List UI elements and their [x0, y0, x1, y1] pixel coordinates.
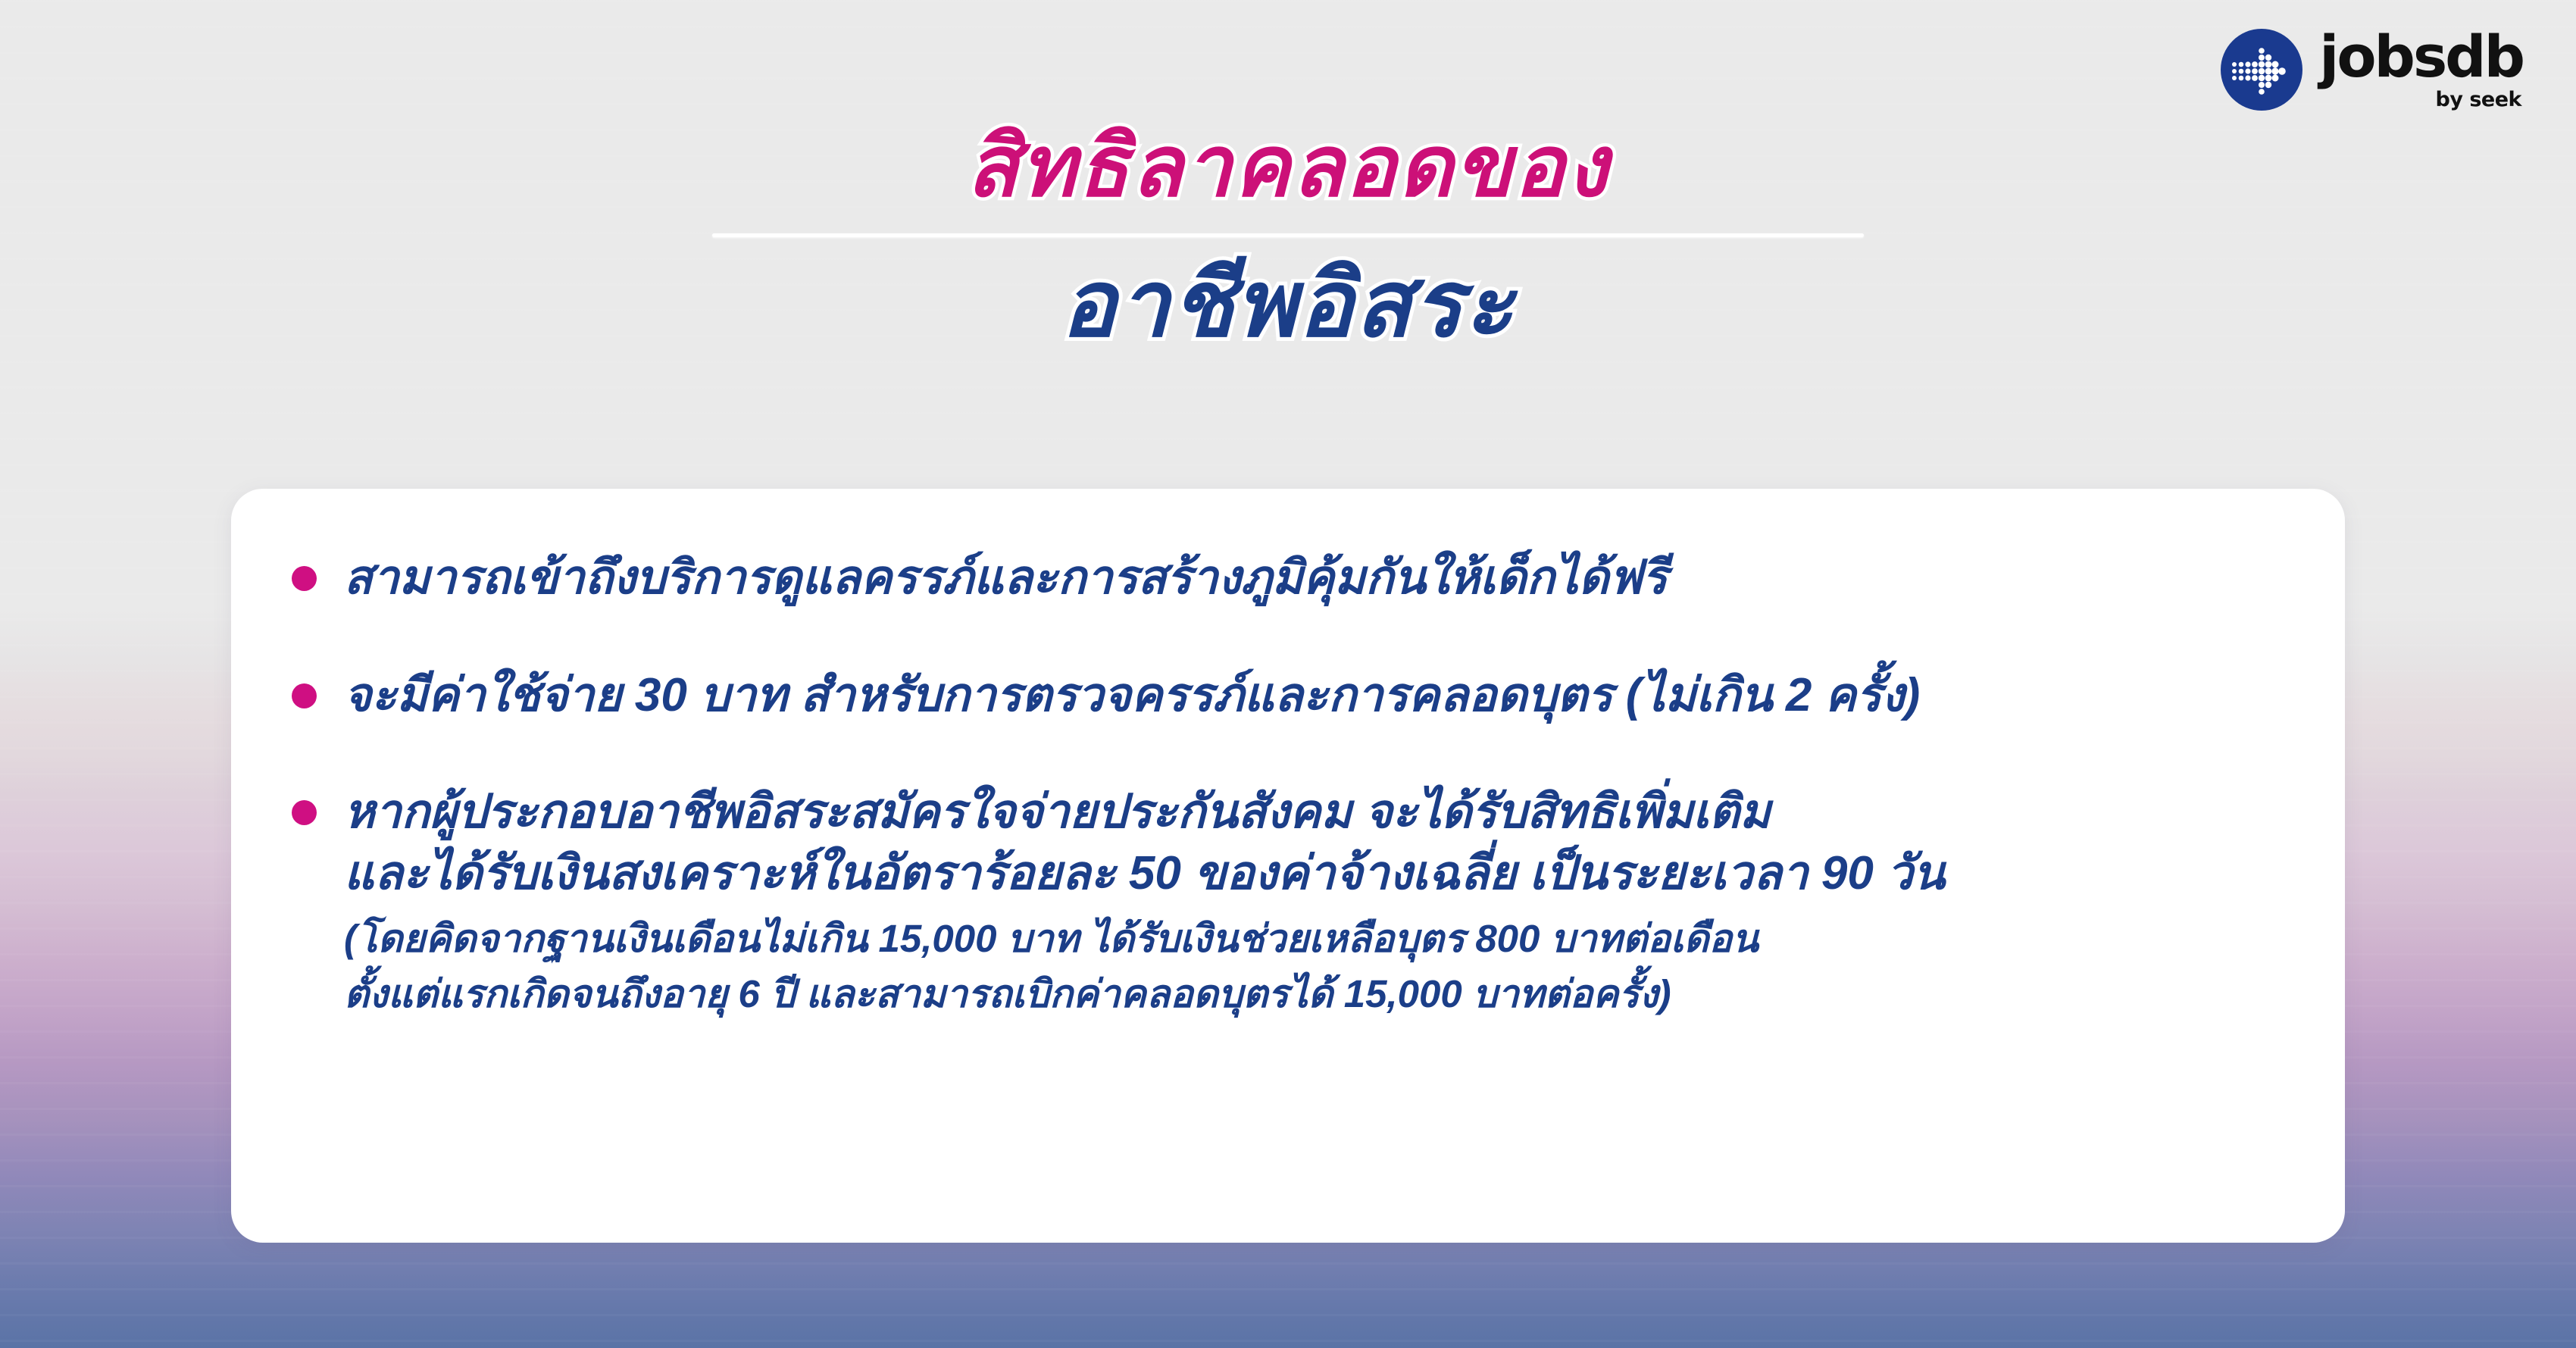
list-item-line: หากผู้ประกอบอาชีพอิสระสมัครใจจ่ายประกันส… — [344, 782, 2284, 843]
list-item-subnote: (โดยคิดจากฐานเงินเดือนไม่เกิน 15,000 บาท… — [344, 912, 2284, 1021]
list-item-line: สามารถเข้าถึงบริการดูแลครรภ์และการสร้างภ… — [344, 548, 2284, 609]
logo-wordmark: jobsdb — [2319, 30, 2523, 84]
title-divider — [712, 233, 1864, 237]
list-item-subline: (โดยคิดจากฐานเงินเดือนไม่เกิน 15,000 บาท… — [344, 912, 2284, 966]
list-item: สามารถเข้าถึงบริการดูแลครรภ์และการสร้างภ… — [292, 548, 2284, 609]
list-item-text: สามารถเข้าถึงบริการดูแลครรภ์และการสร้างภ… — [344, 548, 2284, 609]
page-title-line-2: อาชีพอิสระ — [0, 248, 2576, 361]
list-item: หากผู้ประกอบอาชีพอิสระสมัครใจจ่ายประกันส… — [292, 782, 2284, 1021]
list-item-text: จะมีค่าใช้จ่าย 30 บาท สำหรับการตรวจครรภ์… — [344, 665, 2284, 727]
headline-block: สิทธิลาคลอดของ อาชีพอิสระ — [0, 114, 2576, 361]
jobsdb-arrow-icon — [2221, 29, 2302, 111]
bullet-dot-icon — [292, 566, 317, 591]
logo-byline: by seek — [2436, 89, 2521, 110]
jobsdb-logo: jobsdb by seek — [2221, 29, 2523, 111]
list-item: จะมีค่าใช้จ่าย 30 บาท สำหรับการตรวจครรภ์… — [292, 665, 2284, 727]
list-item-text: หากผู้ประกอบอาชีพอิสระสมัครใจจ่ายประกันส… — [344, 782, 2284, 1021]
content-card: สามารถเข้าถึงบริการดูแลครรภ์และการสร้างภ… — [231, 489, 2345, 1243]
logo-text-group: jobsdb by seek — [2319, 30, 2523, 109]
list-item-line: จะมีค่าใช้จ่าย 30 บาท สำหรับการตรวจครรภ์… — [344, 665, 2284, 727]
list-item-subline: ตั้งแต่แรกเกิดจนถึงอายุ 6 ปี และสามารถเบ… — [344, 967, 2284, 1021]
bullet-dot-icon — [292, 800, 317, 825]
benefits-bullet-list: สามารถเข้าถึงบริการดูแลครรภ์และการสร้างภ… — [292, 548, 2284, 1021]
bullet-dot-icon — [292, 683, 317, 708]
page-title-line-1: สิทธิลาคลอดของ — [0, 114, 2576, 220]
list-item-line: และได้รับเงินสงเคราะห์ในอัตราร้อยละ 50 ข… — [344, 843, 2284, 905]
